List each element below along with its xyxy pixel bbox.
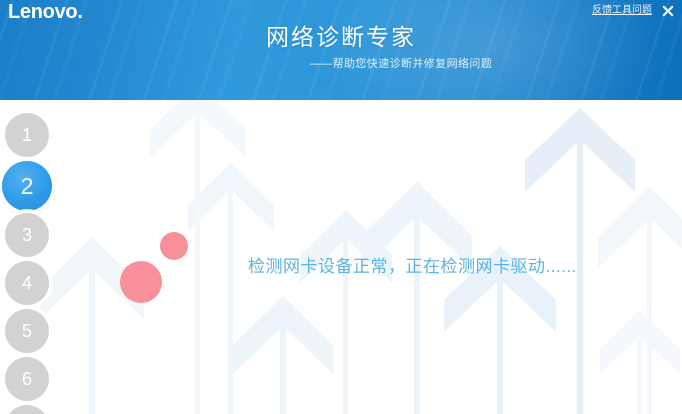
lenovo-logo: Lenovo. [8, 1, 83, 23]
step-indicator-4[interactable]: 4 [5, 261, 49, 305]
page-title: 网络诊断专家 [0, 22, 682, 52]
network-diagnostic-window: Lenovo. 反馈工具问题 网络诊断专家 ——帮助您快速诊断并修复网络问题 [0, 0, 682, 414]
step-indicator-2[interactable]: 2 [2, 161, 52, 211]
step-indicator-1[interactable]: 1 [5, 113, 49, 157]
step-indicator-rail: 1 2 3 4 5 6 7 [0, 100, 56, 414]
header-streak-texture [0, 0, 682, 100]
lenovo-logo-text: Lenovo [8, 1, 77, 23]
title-block: 网络诊断专家 ——帮助您快速诊断并修复网络问题 [0, 22, 682, 72]
step-indicator-3[interactable]: 3 [5, 213, 49, 257]
step-indicator-5[interactable]: 5 [5, 309, 49, 353]
header-tools: 反馈工具问题 [592, 3, 676, 19]
app-header: Lenovo. 反馈工具问题 网络诊断专家 ——帮助您快速诊断并修复网络问题 [0, 0, 682, 100]
step-indicator-7[interactable]: 7 [5, 405, 49, 414]
feedback-link[interactable]: 反馈工具问题 [592, 4, 652, 18]
status-message: 检测网卡设备正常，正在检测网卡驱动...... [248, 255, 577, 279]
step-indicator-6[interactable]: 6 [5, 357, 49, 401]
lenovo-logo-dot: . [77, 1, 82, 23]
close-icon[interactable] [660, 3, 676, 19]
page-subtitle: ——帮助您快速诊断并修复网络问题 [120, 57, 682, 72]
